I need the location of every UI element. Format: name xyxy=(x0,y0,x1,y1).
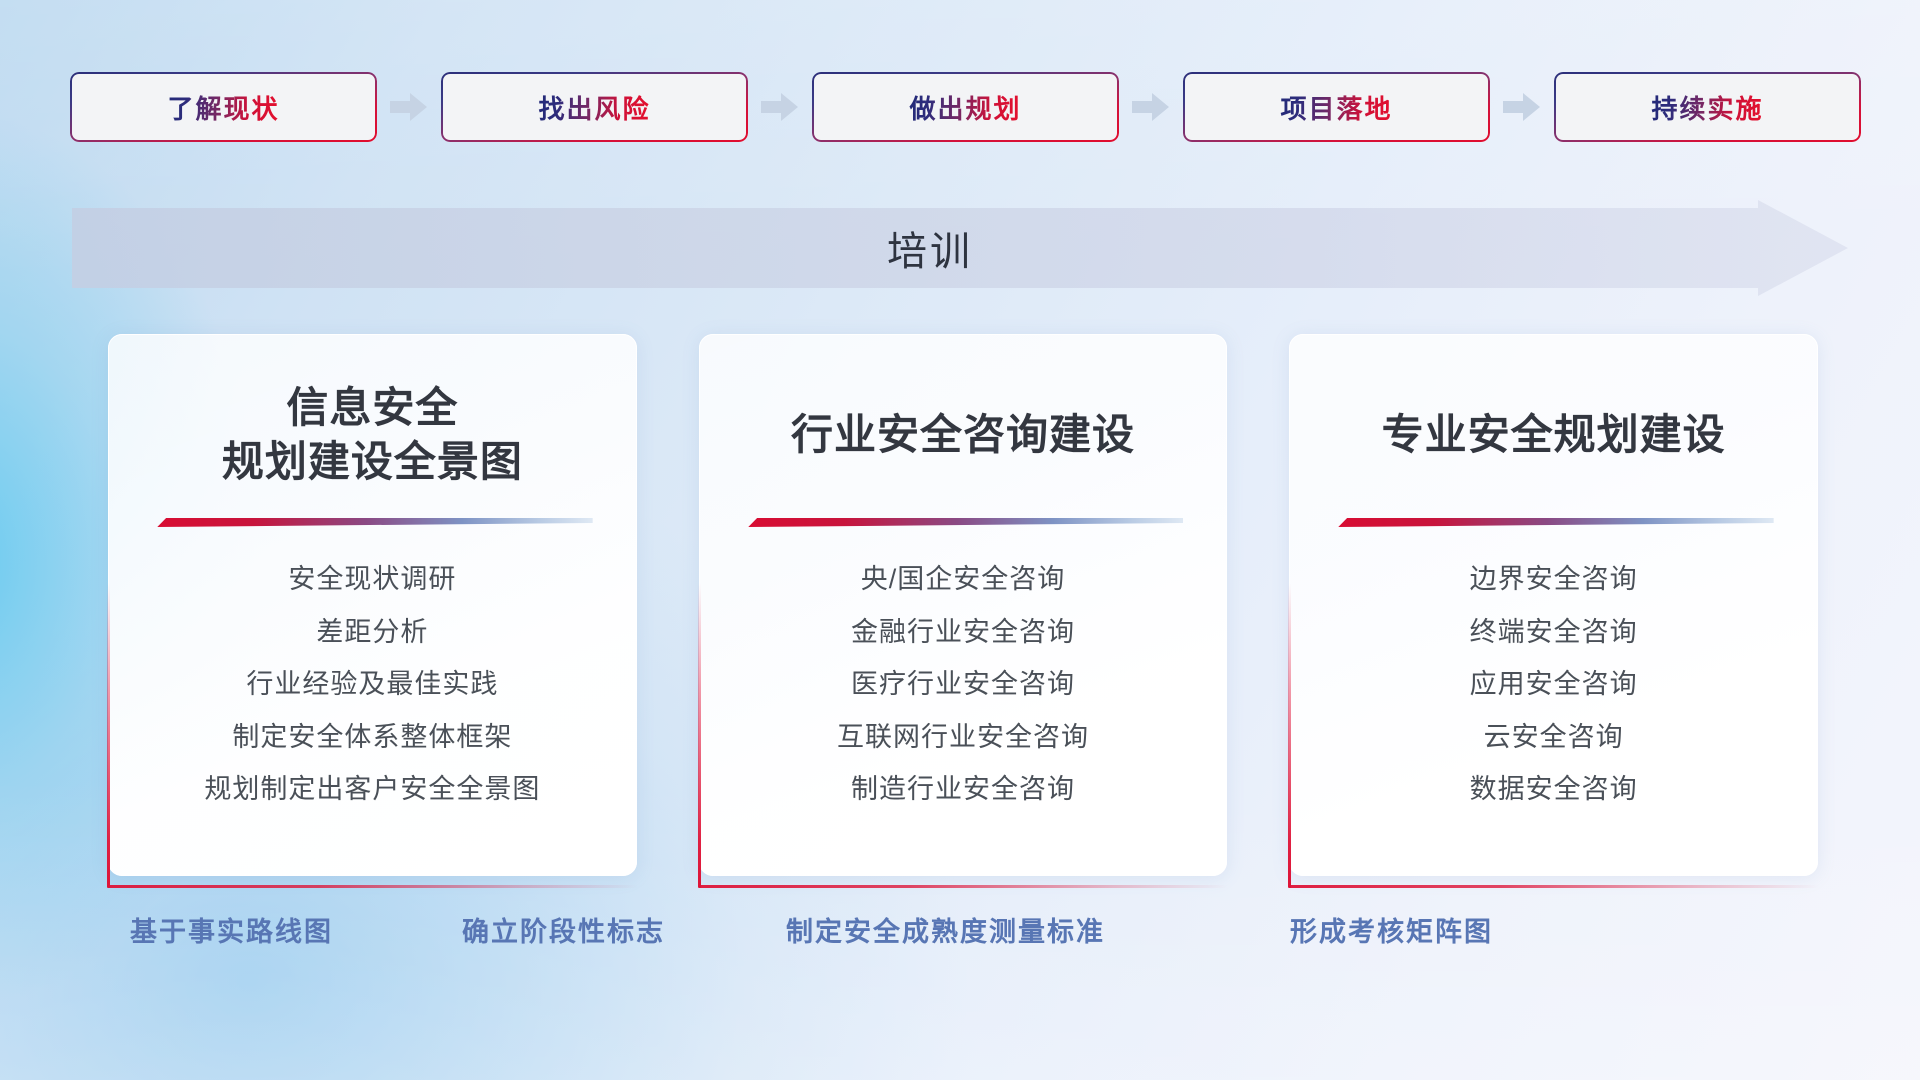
list-item: 互联网行业安全咨询 xyxy=(837,717,1089,758)
list-item: 安全现状调研 xyxy=(288,559,456,600)
list-item: 终端安全咨询 xyxy=(1470,612,1638,653)
card-title-line: 专业安全规划建设 xyxy=(1315,408,1792,462)
arrow-right-icon xyxy=(377,72,441,142)
card-2[interactable]: 专业安全规划建设 边界安全咨询 终端安全咨询 xyxy=(1289,334,1818,876)
step-box-4[interactable]: 持续实施 xyxy=(1554,72,1861,142)
footnote-row: 基于事实路线图 确立阶段性标志 制定安全成熟度测量标准 形成考核矩阵图 xyxy=(0,910,1920,960)
list-item: 医疗行业安全咨询 xyxy=(851,664,1075,705)
card-title-line: 信息安全 xyxy=(134,381,611,435)
step-label-3: 项目落地 xyxy=(1280,89,1392,126)
card-divider-1 xyxy=(743,516,1184,529)
step-label-2: 做出规划 xyxy=(909,89,1021,126)
step-box-1[interactable]: 找出风险 xyxy=(441,72,748,142)
step-label-0: 了解现状 xyxy=(167,89,279,126)
step-label-4: 持续实施 xyxy=(1651,89,1763,126)
card-divider-0 xyxy=(152,516,593,529)
card-title-2: 专业安全规划建设 xyxy=(1315,376,1792,494)
training-banner: 培训 xyxy=(72,200,1848,296)
card-left-accent xyxy=(107,583,110,888)
arrow-right-icon xyxy=(1490,72,1554,142)
card-group: 信息安全 规划建设全景图 安全现状调研 差 xyxy=(108,334,1818,876)
list-item: 应用安全咨询 xyxy=(1470,664,1638,705)
step-box-0[interactable]: 了解现状 xyxy=(70,72,377,142)
step-box-3[interactable]: 项目落地 xyxy=(1183,72,1490,142)
card-list-0: 安全现状调研 差距分析 行业经验及最佳实践 制定安全体系整体框架 规划制定出客户… xyxy=(134,559,611,810)
card-divider-2 xyxy=(1333,516,1774,529)
card-left-accent xyxy=(698,583,701,888)
list-item: 数据安全咨询 xyxy=(1470,769,1638,810)
card-bottom-accent xyxy=(698,885,1229,888)
list-item: 规划制定出客户安全全景图 xyxy=(204,769,540,810)
footnote-0: 基于事实路线图 xyxy=(130,910,333,949)
card-list-2: 边界安全咨询 终端安全咨询 应用安全咨询 云安全咨询 数据安全咨询 xyxy=(1315,559,1792,810)
card-title-0: 信息安全 规划建设全景图 xyxy=(134,376,611,494)
card-title-1: 行业安全咨询建设 xyxy=(725,376,1202,494)
footnote-2: 制定安全成熟度测量标准 xyxy=(786,910,1105,949)
list-item: 差距分析 xyxy=(316,612,428,653)
footnote-3: 形成考核矩阵图 xyxy=(1290,910,1493,949)
card-list-1: 央/国企安全咨询 金融行业安全咨询 医疗行业安全咨询 互联网行业安全咨询 制造行… xyxy=(725,559,1202,810)
card-left-accent xyxy=(1288,583,1291,888)
list-item: 行业经验及最佳实践 xyxy=(246,664,498,705)
card-bottom-accent xyxy=(107,885,638,888)
banner-title: 培训 xyxy=(72,200,1848,296)
card-0[interactable]: 信息安全 规划建设全景图 安全现状调研 差 xyxy=(108,334,637,876)
step-box-2[interactable]: 做出规划 xyxy=(812,72,1119,142)
footnote-1: 确立阶段性标志 xyxy=(462,910,665,949)
arrow-right-icon xyxy=(748,72,812,142)
step-label-1: 找出风险 xyxy=(538,89,650,126)
list-item: 云安全咨询 xyxy=(1484,717,1624,758)
list-item: 制造行业安全咨询 xyxy=(851,769,1075,810)
card-title-line: 行业安全咨询建设 xyxy=(725,408,1202,462)
list-item: 金融行业安全咨询 xyxy=(851,612,1075,653)
card-bottom-accent xyxy=(1288,885,1819,888)
arrow-right-icon xyxy=(1119,72,1183,142)
process-step-row: 了解现状 找出风险 做出规划 项目落地 持续实施 xyxy=(70,72,1860,142)
card-title-line: 规划建设全景图 xyxy=(134,435,611,489)
list-item: 边界安全咨询 xyxy=(1470,559,1638,600)
card-1[interactable]: 行业安全咨询建设 央/国企安全咨询 金融行业安全咨询 xyxy=(699,334,1228,876)
list-item: 央/国企安全咨询 xyxy=(861,559,1066,600)
list-item: 制定安全体系整体框架 xyxy=(232,717,512,758)
